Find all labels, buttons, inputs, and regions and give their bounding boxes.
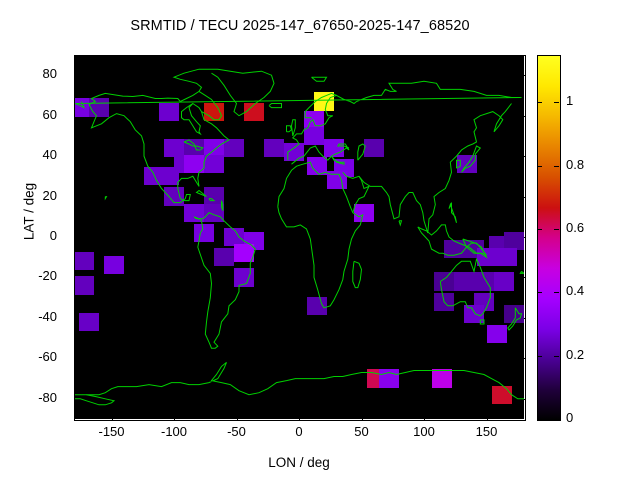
y-axis-tick-label: -80 (38, 390, 57, 405)
heatmap-cell (234, 268, 254, 286)
colorbar-tick (537, 292, 542, 293)
colorbar-tick (554, 102, 559, 103)
y-axis-tick-label: 80 (43, 66, 57, 81)
heatmap-cell (379, 369, 399, 387)
heatmap-cell (324, 139, 344, 157)
colorbar-tick (537, 419, 542, 420)
heatmap-cell (264, 139, 284, 157)
heatmap-cell (494, 272, 514, 290)
colorbar-tick (537, 102, 542, 103)
heatmap-cell (307, 157, 327, 175)
y-axis-tick-label: -20 (38, 268, 57, 283)
heatmap-cell (464, 305, 484, 323)
page-title: SRMTID / TECU 2025-147_67650-2025-147_68… (0, 18, 600, 34)
chart-page: SRMTID / TECU 2025-147_67650-2025-147_68… (0, 0, 640, 480)
colorbar-tick (537, 356, 542, 357)
heatmap-cell (194, 224, 214, 242)
heatmap-cell (184, 204, 204, 222)
heatmap-cell (454, 272, 474, 290)
heatmap-cell (497, 248, 517, 266)
heatmap-cell (224, 139, 244, 157)
y-axis-tick-label: 20 (43, 188, 57, 203)
heatmap-cell (104, 256, 124, 274)
heatmap-cell (444, 240, 464, 258)
heatmap-cell (354, 204, 374, 222)
colorbar-tick-label: 0 (566, 410, 573, 425)
heatmap-cell (204, 103, 224, 121)
colorbar-tick-label: 0.2 (566, 347, 584, 362)
heatmap-cell (487, 325, 507, 343)
heatmap-cell (457, 155, 477, 173)
y-axis-tick-label: -60 (38, 349, 57, 364)
heatmap-cell (434, 293, 454, 311)
colorbar-tick-label: 0.8 (566, 157, 584, 172)
colorbar-tick-label: 0.6 (566, 220, 584, 235)
colorbar-gradient (538, 56, 560, 420)
heatmap-cell (304, 127, 324, 145)
x-axis-tick-label: 0 (269, 424, 329, 439)
heatmap-cell (477, 248, 497, 266)
heatmap-cell (164, 187, 184, 205)
heatmap-cell (432, 369, 452, 387)
heatmap-cell (214, 248, 234, 266)
x-axis-tick-label: 150 (457, 424, 517, 439)
heatmap-cell (327, 171, 347, 189)
x-axis-title: LON / deg (74, 455, 524, 470)
x-axis-tick-label: -50 (207, 424, 267, 439)
heatmap-cell (492, 386, 512, 404)
colorbar-tick (554, 419, 559, 420)
colorbar-tick (554, 229, 559, 230)
heatmap-cell (307, 297, 327, 315)
x-axis-tick-label: 100 (394, 424, 454, 439)
colorbar-tick (554, 166, 559, 167)
x-axis-tick-label: -100 (144, 424, 204, 439)
colorbar-tick (537, 166, 542, 167)
heatmap-cell (204, 155, 224, 173)
colorbar-tick-label: 1 (566, 93, 573, 108)
colorbar-tick (554, 292, 559, 293)
heatmap-cell (364, 139, 384, 157)
heatmap-cells-layer (74, 55, 524, 419)
heatmap-cell (474, 272, 494, 290)
y-axis-tick-label: 0 (50, 228, 57, 243)
y-axis-tick-label: -40 (38, 309, 57, 324)
heatmap-cell (74, 252, 94, 270)
heatmap-cell (434, 272, 454, 290)
heatmap-cell (159, 103, 179, 121)
heatmap-cell (234, 244, 254, 262)
x-axis-tick-label: 50 (332, 424, 392, 439)
heatmap-cell (204, 204, 224, 222)
heatmap-cell (79, 313, 99, 331)
heatmap-cell (74, 98, 89, 116)
heatmap-cell (89, 98, 109, 116)
map-plot-area[interactable] (74, 55, 524, 419)
heatmap-cell (314, 92, 334, 110)
heatmap-cell (244, 103, 264, 121)
colorbar-tick (537, 229, 542, 230)
y-axis-tick-label: 60 (43, 107, 57, 122)
heatmap-cell (74, 276, 94, 294)
heatmap-cell (184, 155, 204, 173)
y-axis-tick-label: 40 (43, 147, 57, 162)
x-axis-tick-label: -150 (82, 424, 142, 439)
colorbar[interactable] (537, 55, 561, 421)
colorbar-tick-label: 0.4 (566, 283, 584, 298)
colorbar-tick (554, 356, 559, 357)
y-axis-title: LAT / deg (22, 152, 37, 272)
heatmap-cell (284, 143, 304, 161)
heatmap-cell (504, 305, 524, 323)
heatmap-cell (159, 167, 179, 185)
